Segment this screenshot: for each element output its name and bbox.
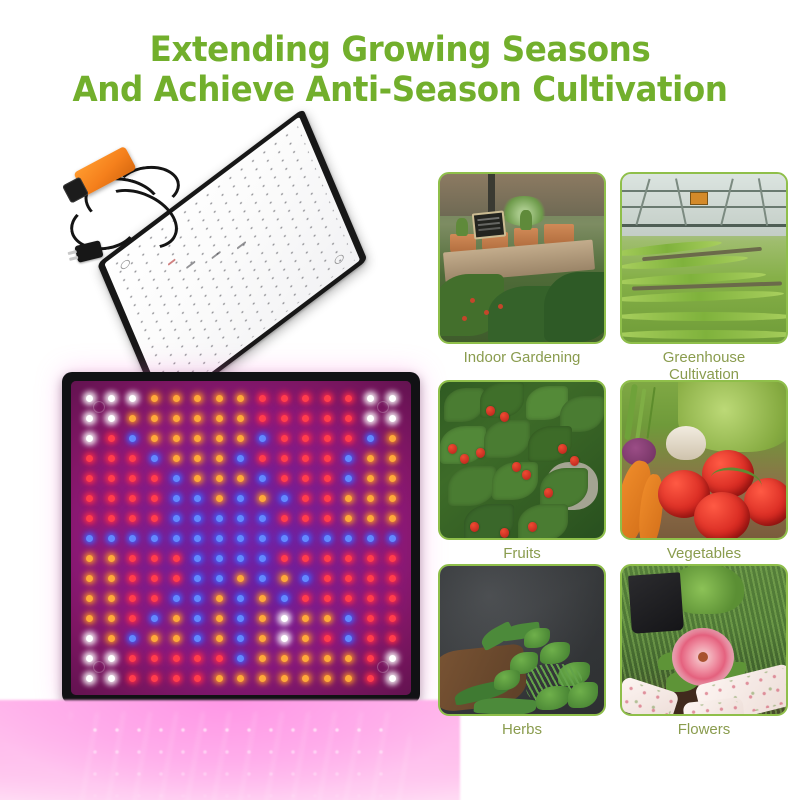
led-r xyxy=(259,455,266,462)
led-o xyxy=(151,635,158,642)
led-b xyxy=(194,515,201,522)
led-o xyxy=(345,675,352,682)
led-r xyxy=(324,415,331,422)
led-b xyxy=(129,635,136,642)
led-o xyxy=(194,395,201,402)
led-b xyxy=(194,595,201,602)
led-o xyxy=(389,455,396,462)
led-b xyxy=(259,515,266,522)
led-b xyxy=(151,615,158,622)
led-o xyxy=(389,475,396,482)
photo-vegetables xyxy=(620,380,788,540)
led-o xyxy=(173,635,180,642)
led-b xyxy=(259,475,266,482)
led-r xyxy=(367,675,374,682)
led-b xyxy=(151,455,158,462)
led-b xyxy=(345,535,352,542)
application-gallery: Indoor Gardening xyxy=(438,172,794,772)
led-o xyxy=(151,415,158,422)
led-r xyxy=(324,495,331,502)
led-o xyxy=(151,435,158,442)
led-w xyxy=(108,395,115,402)
led-r xyxy=(389,615,396,622)
led-o xyxy=(216,595,223,602)
led-r xyxy=(302,455,309,462)
led-o xyxy=(216,635,223,642)
led-o xyxy=(216,675,223,682)
application-card-herbs[interactable]: Herbs xyxy=(438,564,606,738)
led-r xyxy=(302,595,309,602)
led-o xyxy=(108,595,115,602)
led-b xyxy=(173,495,180,502)
led-o xyxy=(151,395,158,402)
led-r xyxy=(281,475,288,482)
application-card-flowers[interactable]: Flowers xyxy=(620,564,788,738)
led-o xyxy=(194,415,201,422)
led-o xyxy=(259,635,266,642)
led-r xyxy=(367,595,374,602)
led-b xyxy=(129,535,136,542)
led-b xyxy=(216,515,223,522)
led-o xyxy=(367,495,374,502)
led-r xyxy=(281,455,288,462)
led-o xyxy=(281,675,288,682)
led-b xyxy=(345,455,352,462)
led-o xyxy=(86,555,93,562)
led-o xyxy=(86,615,93,622)
led-r xyxy=(302,415,309,422)
led-o xyxy=(216,395,223,402)
led-b xyxy=(194,635,201,642)
led-o xyxy=(173,435,180,442)
led-b xyxy=(237,535,244,542)
led-o xyxy=(194,455,201,462)
panel-screw-icon xyxy=(377,661,389,673)
headline-line-2: And Achieve Anti-Season Cultivation xyxy=(28,70,772,110)
led-o xyxy=(389,435,396,442)
led-b xyxy=(345,635,352,642)
led-r xyxy=(108,455,115,462)
led-w xyxy=(129,395,136,402)
led-r xyxy=(86,475,93,482)
led-b xyxy=(345,615,352,622)
led-o xyxy=(216,455,223,462)
led-r xyxy=(151,675,158,682)
led-o xyxy=(345,515,352,522)
led-r xyxy=(86,495,93,502)
led-o xyxy=(108,575,115,582)
led-b xyxy=(194,495,201,502)
led-r xyxy=(259,415,266,422)
led-r xyxy=(129,495,136,502)
led-w xyxy=(389,655,396,662)
led-o xyxy=(108,635,115,642)
led-w xyxy=(367,395,374,402)
led-r xyxy=(129,595,136,602)
led-r xyxy=(259,395,266,402)
led-r xyxy=(108,495,115,502)
led-o xyxy=(302,615,309,622)
led-w xyxy=(281,635,288,642)
led-r xyxy=(324,395,331,402)
illuminated-led-grow-panel xyxy=(62,372,420,704)
led-r xyxy=(151,515,158,522)
led-b xyxy=(302,535,309,542)
led-b xyxy=(194,575,201,582)
led-o xyxy=(194,435,201,442)
caption-flowers: Flowers xyxy=(620,721,788,738)
led-w xyxy=(389,415,396,422)
led-r xyxy=(324,595,331,602)
led-r xyxy=(345,555,352,562)
led-r xyxy=(302,435,309,442)
led-r xyxy=(151,495,158,502)
led-w xyxy=(367,415,374,422)
led-r xyxy=(129,655,136,662)
led-w xyxy=(108,675,115,682)
led-o xyxy=(237,475,244,482)
led-o xyxy=(237,575,244,582)
led-r xyxy=(151,655,158,662)
led-r xyxy=(302,555,309,562)
page-title: Extending Growing Seasons And Achieve An… xyxy=(28,30,772,110)
application-card-greenhouse-cultivation[interactable]: Greenhouse Cultivation xyxy=(620,172,788,383)
led-r xyxy=(108,475,115,482)
led-o xyxy=(237,675,244,682)
led-r xyxy=(151,595,158,602)
led-o xyxy=(237,415,244,422)
driver-vent-icon xyxy=(67,181,85,197)
photo-herbs xyxy=(438,564,606,716)
led-b xyxy=(237,455,244,462)
led-b xyxy=(367,435,374,442)
led-r xyxy=(129,675,136,682)
led-o xyxy=(216,615,223,622)
led-r xyxy=(324,555,331,562)
led-b xyxy=(216,535,223,542)
caption-herbs: Herbs xyxy=(438,721,606,738)
headline-line-1: Extending Growing Seasons xyxy=(28,30,772,70)
led-o xyxy=(173,615,180,622)
led-r xyxy=(281,415,288,422)
led-r xyxy=(151,555,158,562)
led-r xyxy=(389,555,396,562)
led-r xyxy=(302,515,309,522)
led-r xyxy=(345,595,352,602)
led-o xyxy=(302,675,309,682)
led-r xyxy=(129,475,136,482)
led-o xyxy=(281,655,288,662)
led-b xyxy=(345,475,352,482)
led-r xyxy=(324,575,331,582)
led-w xyxy=(86,395,93,402)
led-o xyxy=(324,615,331,622)
led-o xyxy=(216,435,223,442)
led-w xyxy=(389,675,396,682)
led-o xyxy=(237,395,244,402)
led-b xyxy=(259,535,266,542)
led-o xyxy=(173,395,180,402)
led-o xyxy=(216,415,223,422)
led-w xyxy=(86,655,93,662)
led-r xyxy=(173,575,180,582)
led-b xyxy=(194,535,201,542)
led-r xyxy=(173,655,180,662)
led-b xyxy=(194,555,201,562)
led-r xyxy=(129,575,136,582)
led-o xyxy=(108,615,115,622)
led-b xyxy=(237,655,244,662)
led-o xyxy=(389,515,396,522)
led-b xyxy=(281,535,288,542)
led-r xyxy=(367,575,374,582)
led-r xyxy=(324,435,331,442)
led-r xyxy=(302,475,309,482)
led-o xyxy=(173,455,180,462)
led-b xyxy=(216,555,223,562)
led-o xyxy=(259,595,266,602)
photo-greenhouse xyxy=(620,172,788,344)
led-o xyxy=(216,495,223,502)
led-b xyxy=(173,515,180,522)
led-b xyxy=(173,595,180,602)
photo-flowers xyxy=(620,564,788,716)
led-r xyxy=(367,555,374,562)
led-o xyxy=(324,655,331,662)
led-b xyxy=(216,575,223,582)
led-r xyxy=(345,435,352,442)
led-r xyxy=(108,515,115,522)
panel-screw-icon xyxy=(93,661,105,673)
caption-greenhouse-cultivation: Greenhouse Cultivation xyxy=(620,349,788,383)
led-r xyxy=(389,595,396,602)
led-o xyxy=(345,495,352,502)
led-r xyxy=(216,655,223,662)
led-r xyxy=(194,655,201,662)
led-r xyxy=(345,575,352,582)
application-card-fruits[interactable]: Fruits xyxy=(438,380,606,562)
led-b xyxy=(237,595,244,602)
led-r xyxy=(86,515,93,522)
led-o xyxy=(367,455,374,462)
light-dot-pattern xyxy=(80,715,400,800)
led-o xyxy=(367,475,374,482)
led-r xyxy=(345,395,352,402)
led-r xyxy=(129,515,136,522)
led-b xyxy=(237,515,244,522)
led-o xyxy=(324,675,331,682)
led-r xyxy=(302,495,309,502)
led-o xyxy=(302,635,309,642)
led-r xyxy=(281,395,288,402)
led-r xyxy=(86,455,93,462)
led-r xyxy=(367,635,374,642)
led-r xyxy=(324,515,331,522)
led-b xyxy=(324,535,331,542)
led-o xyxy=(86,575,93,582)
led-b xyxy=(281,495,288,502)
application-card-vegetables[interactable]: Vegetables xyxy=(620,380,788,562)
led-r xyxy=(345,415,352,422)
led-o xyxy=(259,675,266,682)
led-r xyxy=(389,575,396,582)
led-o xyxy=(302,655,309,662)
led-b xyxy=(389,535,396,542)
led-b xyxy=(237,635,244,642)
product-marketing-image: Extending Growing Seasons And Achieve An… xyxy=(0,0,800,800)
caption-fruits: Fruits xyxy=(438,545,606,562)
led-o xyxy=(194,475,201,482)
led-r xyxy=(367,655,374,662)
led-b xyxy=(173,535,180,542)
panel-light-face xyxy=(71,381,411,695)
led-o xyxy=(108,555,115,562)
led-o xyxy=(367,515,374,522)
white-quantum-board-photo xyxy=(62,150,422,365)
led-o xyxy=(345,655,352,662)
panel-screw-icon xyxy=(377,401,389,413)
led-r xyxy=(324,475,331,482)
led-r xyxy=(281,435,288,442)
led-o xyxy=(259,495,266,502)
led-b xyxy=(259,435,266,442)
led-r xyxy=(151,475,158,482)
application-card-indoor-gardening[interactable]: Indoor Gardening xyxy=(438,172,606,366)
led-b xyxy=(237,615,244,622)
led-b xyxy=(237,555,244,562)
caption-vegetables: Vegetables xyxy=(620,545,788,562)
led-o xyxy=(259,615,266,622)
led-b xyxy=(281,595,288,602)
caption-indoor-gardening: Indoor Gardening xyxy=(438,349,606,366)
led-w xyxy=(86,635,93,642)
white-board-pcb xyxy=(104,117,360,407)
led-o xyxy=(86,595,93,602)
led-b xyxy=(173,475,180,482)
white-board-led-array xyxy=(110,123,355,401)
led-r xyxy=(302,395,309,402)
led-w xyxy=(108,415,115,422)
led-o xyxy=(216,475,223,482)
led-b xyxy=(237,495,244,502)
led-b xyxy=(194,615,201,622)
led-r xyxy=(367,615,374,622)
led-r xyxy=(173,675,180,682)
led-w xyxy=(86,435,93,442)
photo-indoor-gardening xyxy=(438,172,606,344)
led-w xyxy=(86,415,93,422)
led-r xyxy=(324,635,331,642)
led-b xyxy=(367,535,374,542)
led-b xyxy=(108,535,115,542)
led-w xyxy=(108,655,115,662)
led-o xyxy=(389,495,396,502)
led-o xyxy=(281,575,288,582)
led-r xyxy=(194,675,201,682)
led-b xyxy=(151,535,158,542)
led-r xyxy=(173,555,180,562)
led-b xyxy=(86,535,93,542)
led-r xyxy=(129,455,136,462)
led-r xyxy=(129,615,136,622)
led-r xyxy=(281,555,288,562)
led-w xyxy=(389,395,396,402)
led-b xyxy=(259,555,266,562)
led-r xyxy=(281,515,288,522)
led-r xyxy=(389,635,396,642)
led-r xyxy=(108,435,115,442)
led-r xyxy=(151,575,158,582)
photo-fruits xyxy=(438,380,606,540)
led-array xyxy=(71,381,411,695)
led-o xyxy=(129,415,136,422)
led-o xyxy=(259,655,266,662)
led-o xyxy=(237,435,244,442)
led-b xyxy=(259,575,266,582)
white-board-frame xyxy=(97,108,367,415)
led-o xyxy=(173,415,180,422)
led-b xyxy=(302,575,309,582)
led-r xyxy=(324,455,331,462)
led-w xyxy=(86,675,93,682)
led-r xyxy=(129,555,136,562)
panel-screw-icon xyxy=(93,401,105,413)
led-b xyxy=(129,435,136,442)
led-w xyxy=(281,615,288,622)
